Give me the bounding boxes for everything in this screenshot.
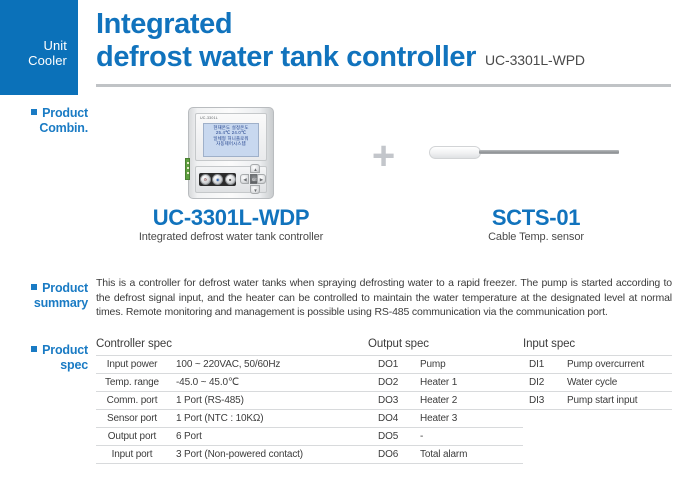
table-row: DO2 Heater 1 — [368, 374, 523, 392]
sensor-probe-body — [429, 146, 481, 159]
spec-label: DI1 — [523, 356, 559, 374]
page-title: Integrated defrost water tank controller… — [96, 8, 671, 74]
nav-down-icon: ▼ — [250, 185, 260, 194]
product-spec-section: Controller spec Input power 100 ~ 220VAC… — [96, 338, 672, 464]
spec-value: Pump — [412, 356, 523, 374]
sensor-cable — [479, 150, 619, 154]
unit-badge-line1: Unit — [0, 38, 67, 53]
device-lcd-display: 현재온도 설정온도 25.4℃ 24.0℃ 일체형 허니플로워 자동제어시스템 — [203, 123, 259, 157]
controller-spec-table: Input power 100 ~ 220VAC, 50/60Hz Temp. … — [96, 355, 368, 464]
spec-label: Output port — [96, 428, 168, 446]
spec-value: 100 ~ 220VAC, 50/60Hz — [168, 356, 368, 374]
section-label-spec-line1: Product — [42, 343, 88, 357]
unit-cooler-badge: Unit Cooler — [0, 0, 78, 95]
cable-temp-sensor-illustration — [429, 143, 644, 163]
section-label-product-combination: Product Combin. — [0, 106, 88, 135]
output-spec-block: Output spec DO1 Pump DO2 Heater 1 DO3 He… — [368, 338, 523, 464]
product-name-controller: UC-3301L-WDP — [109, 205, 354, 230]
table-row: Temp. range -45.0 ~ 45.0℃ — [96, 374, 368, 392]
header-divider — [96, 84, 671, 87]
spec-value: 3 Port (Non-powered contact) — [168, 446, 368, 464]
plus-separator-icon: + — [354, 136, 414, 176]
table-row: Output port 6 Port — [96, 428, 368, 446]
product-caption-controller: UC-3301L-WDP Integrated defrost water ta… — [109, 205, 354, 255]
spec-value: Water cycle — [559, 374, 672, 392]
spec-label: DO3 — [368, 392, 412, 410]
bullet-square-icon — [31, 346, 37, 352]
page-title-line1: Integrated — [96, 8, 671, 41]
section-label-spec-line2: spec — [0, 358, 88, 373]
table-row: Input power 100 ~ 220VAC, 50/60Hz — [96, 356, 368, 374]
table-row: DO5 - — [368, 428, 523, 446]
spec-value: 6 Port — [168, 428, 368, 446]
table-row: DO6 Total alarm — [368, 446, 523, 464]
spec-value: Heater 2 — [412, 392, 523, 410]
section-label-product-spec: Product spec — [0, 343, 88, 372]
input-spec-block: Input spec DI1 Pump overcurrent DI2 Wate… — [523, 338, 672, 464]
product-summary-text: This is a controller for defrost water t… — [96, 276, 672, 320]
spec-value: -45.0 ~ 45.0℃ — [168, 374, 368, 392]
spec-label: Temp. range — [96, 374, 168, 392]
table-row: DO1 Pump — [368, 356, 523, 374]
product-desc-sensor: Cable Temp. sensor — [414, 230, 659, 245]
spec-value: 1 Port (NTC : 10KΩ) — [168, 410, 368, 428]
spec-label: Input power — [96, 356, 168, 374]
output-spec-title: Output spec — [368, 338, 523, 350]
spec-label: DI2 — [523, 374, 559, 392]
device-button-2-icon: ◉ — [212, 174, 223, 185]
section-label-combination-line2: Combin. — [0, 121, 88, 136]
terminal-block-icon — [185, 158, 190, 180]
device-button-3-icon: ■ — [225, 174, 236, 185]
spec-label: DI3 — [523, 392, 559, 410]
table-row: DO3 Heater 2 — [368, 392, 523, 410]
spec-label: Comm. port — [96, 392, 168, 410]
lcd-line-4: 자동제어시스템 — [206, 141, 256, 147]
spec-value: Pump start input — [559, 392, 672, 410]
section-label-combination-line1: Product — [42, 106, 88, 120]
device-brand-label: UC-3301L — [200, 116, 218, 120]
header-model-number: UC-3301L-WPD — [485, 52, 585, 68]
product-image-sensor — [414, 100, 659, 205]
nav-up-icon: ▲ — [250, 164, 260, 173]
output-spec-table: DO1 Pump DO2 Heater 1 DO3 Heater 2 DO4 H… — [368, 355, 523, 464]
spec-value: Heater 3 — [412, 410, 523, 428]
nav-left-icon: ◀ — [240, 174, 249, 184]
controller-spec-title: Controller spec — [96, 338, 368, 350]
device-indicator-buttons: ⚙ ◉ ■ — [199, 173, 236, 186]
table-row: Comm. port 1 Port (RS-485) — [96, 392, 368, 410]
table-row: Sensor port 1 Port (NTC : 10KΩ) — [96, 410, 368, 428]
unit-badge-line2: Cooler — [0, 53, 67, 68]
spec-value: Heater 1 — [412, 374, 523, 392]
caption-spacer — [354, 205, 414, 255]
section-label-summary-line1: Product — [42, 281, 88, 295]
page-title-line2: defrost water tank controller — [96, 41, 476, 74]
input-spec-title: Input spec — [523, 338, 672, 350]
bullet-square-icon — [31, 109, 37, 115]
spec-label: Input port — [96, 446, 168, 464]
spec-value: Pump overcurrent — [559, 356, 672, 374]
product-image-controller: UC-3301L 현재온도 설정온도 25.4℃ 24.0℃ 일체형 허니플로워… — [109, 100, 354, 205]
table-row: Input port 3 Port (Non-powered contact) — [96, 446, 368, 464]
spec-value: - — [412, 428, 523, 446]
table-row: DO4 Heater 3 — [368, 410, 523, 428]
page-header: Unit Cooler Integrated defrost water tan… — [0, 0, 677, 95]
table-row: DI1 Pump overcurrent — [523, 356, 672, 374]
product-combination-section: UC-3301L 현재온도 설정온도 25.4℃ 24.0℃ 일체형 허니플로워… — [96, 100, 671, 260]
input-spec-table: DI1 Pump overcurrent DI2 Water cycle DI3… — [523, 355, 672, 410]
device-button-1-icon: ⚙ — [200, 174, 211, 185]
device-button-panel: ⚙ ◉ ■ ▲ ◀ SET ▶ ▼ — [195, 166, 267, 193]
device-navigation-pad: ▲ ◀ SET ▶ ▼ — [240, 164, 266, 194]
controller-device-illustration: UC-3301L 현재온도 설정온도 25.4℃ 24.0℃ 일체형 허니플로워… — [188, 107, 274, 199]
spec-label: Sensor port — [96, 410, 168, 428]
product-caption-sensor: SCTS-01 Cable Temp. sensor — [414, 205, 659, 255]
table-row: DI2 Water cycle — [523, 374, 672, 392]
spec-label: DO6 — [368, 446, 412, 464]
spec-value: Total alarm — [412, 446, 523, 464]
table-row: DI3 Pump start input — [523, 392, 672, 410]
spec-label: DO1 — [368, 356, 412, 374]
nav-right-icon: ▶ — [257, 174, 266, 184]
spec-value: 1 Port (RS-485) — [168, 392, 368, 410]
spec-label: DO2 — [368, 374, 412, 392]
section-label-summary-line2: summary — [0, 296, 88, 311]
section-label-product-summary: Product summary — [0, 281, 88, 310]
product-desc-controller: Integrated defrost water tank controller — [109, 230, 354, 245]
spec-label: DO4 — [368, 410, 412, 428]
bullet-square-icon — [31, 284, 37, 290]
controller-spec-block: Controller spec Input power 100 ~ 220VAC… — [96, 338, 368, 464]
device-screen-bezel: UC-3301L 현재온도 설정온도 25.4℃ 24.0℃ 일체형 허니플로워… — [195, 113, 267, 161]
spec-label: DO5 — [368, 428, 412, 446]
product-name-sensor: SCTS-01 — [414, 205, 659, 230]
